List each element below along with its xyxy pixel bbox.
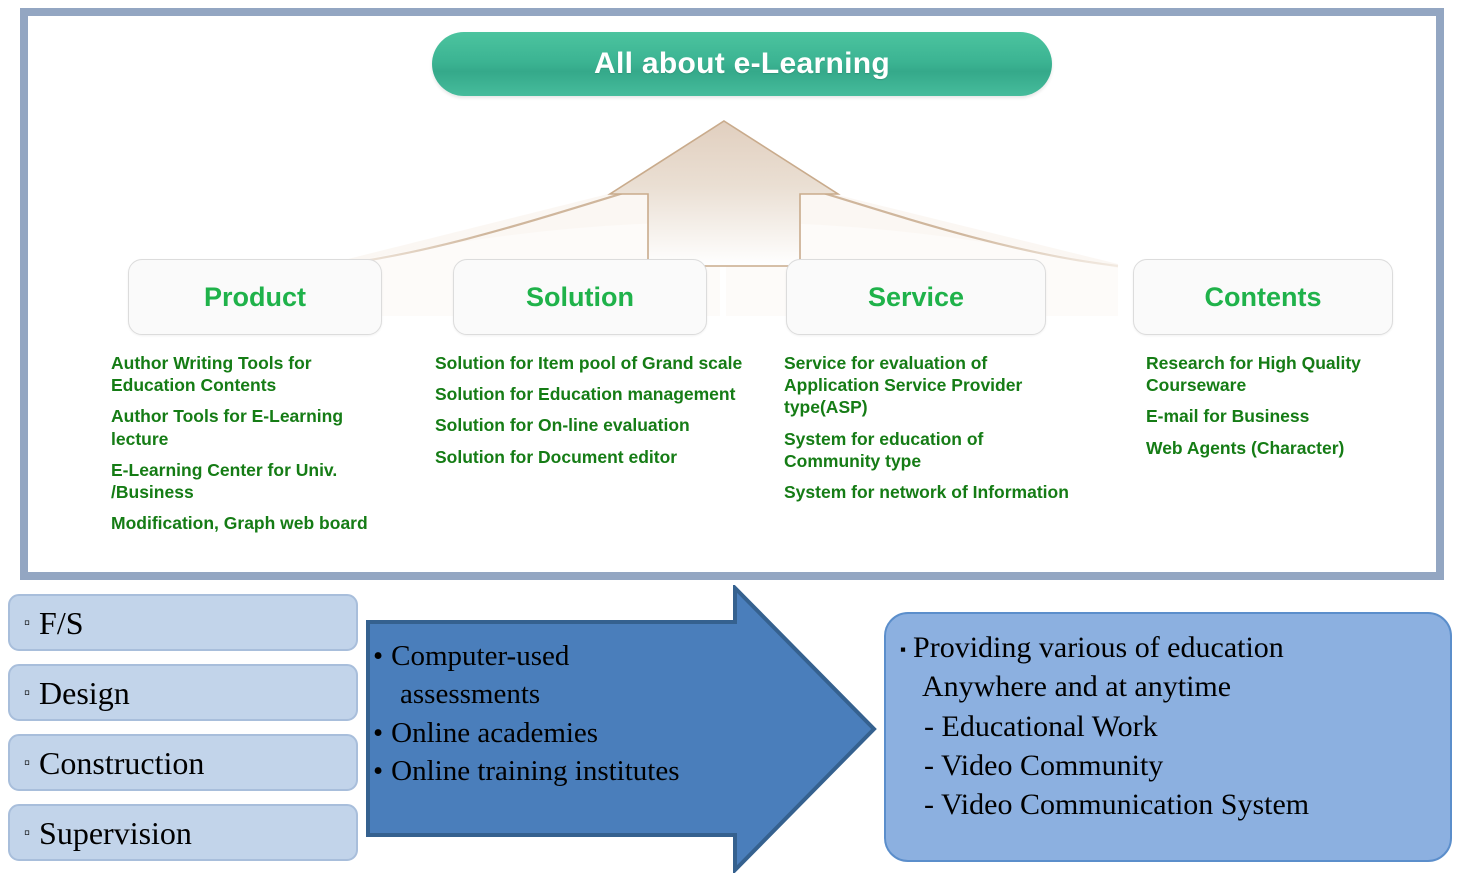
title-text: All about e-Learning [594,47,890,81]
outcome-panel: ▪Providing various of education Anywhere… [884,612,1452,862]
category-header-contents[interactable]: Contents [1133,259,1393,335]
arrow-line-text: assessments [400,678,540,710]
category-item-list: Author Writing Tools for Education Conte… [111,352,376,535]
process-stage-list: ▫ F/S ▫ Design ▫ Construction ▫ Supervis… [8,594,358,874]
category-item-list: Research for High Quality Courseware E-m… [1146,352,1431,459]
square-bullet-icon: ▫ [24,614,30,631]
category-column-contents: Contents Research for High Quality Cours… [1128,259,1408,468]
list-item: •Online training institutes [373,752,788,790]
round-bullet-icon: • [373,717,383,749]
outcome-line-text: - Video Communication System [924,788,1309,821]
category-column-product: Product Author Writing Tools for Educati… [111,259,381,544]
square-bullet-icon: ▫ [24,754,30,771]
title-banner: All about e-Learning [432,32,1052,96]
category-header-label: Contents [1205,282,1322,313]
category-column-solution: Solution Solution for Item pool of Grand… [433,259,713,477]
list-item: System for education of Community type [784,428,1084,472]
category-header-label: Product [204,282,306,313]
list-item: Author Tools for E-Learning lecture [111,405,376,449]
list-item[interactable]: ▫ F/S [8,594,358,651]
stage-label: Supervision [39,817,192,849]
stage-label: Construction [39,747,204,779]
outcome-line-text: Anywhere and at anytime [922,670,1231,703]
arrow-line-text: Online training institutes [391,755,679,787]
outcome-line-text: - Educational Work [924,710,1158,743]
list-item: •Computer-used [373,637,788,675]
category-header-label: Service [868,282,964,313]
category-column-service: Service Service for evaluation of Applic… [768,259,1058,512]
list-item: Solution for On-line evaluation [435,414,765,436]
list-item: - Video Community [900,746,1440,785]
list-item: •Online academies [373,714,788,752]
list-item: Web Agents (Character) [1146,437,1431,459]
list-item: Service for evaluation of Application Se… [784,352,1084,419]
category-header-product[interactable]: Product [128,259,382,335]
square-bullet-icon: ▫ [24,824,30,841]
list-item[interactable]: ▫ Construction [8,734,358,791]
round-bullet-icon: • [373,640,383,672]
right-pointing-arrow: •Computer-used assessments •Online acade… [365,585,877,873]
category-header-label: Solution [526,282,634,313]
top-diagram-frame: All about e-Learning [20,8,1444,580]
list-item: - Video Communication System [900,785,1440,824]
list-item: E-mail for Business [1146,405,1431,427]
square-bullet-icon: ▫ [24,684,30,701]
category-item-list: Service for evaluation of Application Se… [784,352,1084,503]
list-item: Author Writing Tools for Education Conte… [111,352,376,396]
list-item: Research for High Quality Courseware [1146,352,1431,396]
list-item: System for network of Information [784,481,1084,503]
arrow-line-text: Online academies [391,717,598,749]
list-item: Solution for Education management [435,383,765,405]
list-item: E-Learning Center for Univ. /Business [111,459,376,503]
arrow-text-block: •Computer-used assessments •Online acade… [373,637,788,790]
category-header-service[interactable]: Service [786,259,1046,335]
list-item: Solution for Item pool of Grand scale [435,352,765,374]
list-item-continuation: Anywhere and at anytime [900,667,1440,706]
list-item: Solution for Document editor [435,446,765,468]
stage-label: F/S [39,607,83,639]
list-item[interactable]: ▫ Supervision [8,804,358,861]
round-bullet-icon: • [373,755,383,787]
stage-label: Design [39,677,130,709]
list-item: ▪Providing various of education [900,628,1440,667]
list-item-continuation: assessments [373,675,788,713]
list-item[interactable]: ▫ Design [8,664,358,721]
outcome-line-text: - Video Community [924,749,1163,782]
square-bullet-icon: ▪ [900,640,906,659]
arrow-line-text: Computer-used [391,640,569,672]
category-item-list: Solution for Item pool of Grand scale So… [435,352,765,468]
outcome-line-text: Providing various of education [913,631,1284,664]
list-item: - Educational Work [900,707,1440,746]
list-item: Modification, Graph web board [111,512,376,534]
category-header-solution[interactable]: Solution [453,259,707,335]
